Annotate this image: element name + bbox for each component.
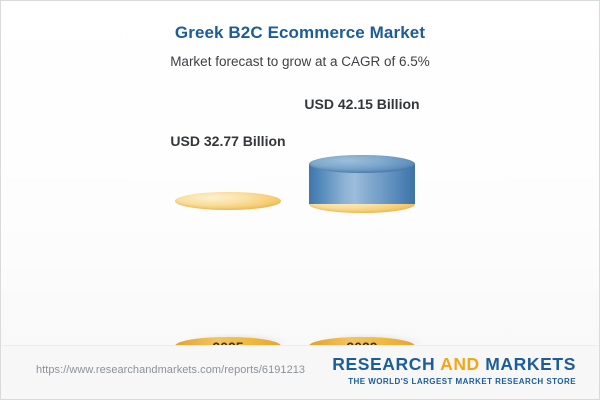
- bar-segment-growth: [309, 164, 415, 204]
- chart-footer: https://www.researchandmarkets.com/repor…: [2, 345, 598, 398]
- bar-value-label: USD 42.15 Billion: [304, 96, 419, 112]
- cylinder-top-cap: [175, 192, 281, 210]
- cylinder-bar-2029[interactable]: [309, 164, 415, 346]
- cylinder-bar-2025[interactable]: [175, 201, 281, 346]
- chart-subtitle: Market forecast to grow at a CAGR of 6.5…: [1, 54, 599, 69]
- cylinder-body: [175, 201, 281, 346]
- bar-segment-base: [175, 201, 281, 346]
- brand-name: RESEARCH AND MARKETS: [332, 354, 576, 375]
- bar-value-label: USD 32.77 Billion: [170, 133, 285, 149]
- brand-name-part1: RESEARCH: [332, 354, 440, 374]
- chart-card: Greek B2C Ecommerce Market Market foreca…: [0, 0, 600, 400]
- cylinder-body: [309, 204, 415, 346]
- brand-tagline: THE WORLD'S LARGEST MARKET RESEARCH STOR…: [332, 377, 576, 386]
- source-url[interactable]: https://www.researchandmarkets.com/repor…: [36, 364, 305, 376]
- chart-plot-area: USD 32.77 Billion 2025 USD 42.15 Billion: [1, 81, 599, 346]
- brand-name-part2: MARKETS: [480, 354, 576, 374]
- brand-name-and: AND: [440, 354, 480, 374]
- bar-segment-base: [309, 204, 415, 346]
- bar-group-2025: USD 32.77 Billion 2025: [175, 101, 281, 346]
- cylinder-top-cap: [309, 155, 415, 173]
- brand-logo[interactable]: RESEARCH AND MARKETS THE WORLD'S LARGEST…: [332, 354, 576, 386]
- page-title: Greek B2C Ecommerce Market: [1, 23, 599, 43]
- bar-group-2029: USD 42.15 Billion 2029: [309, 101, 415, 346]
